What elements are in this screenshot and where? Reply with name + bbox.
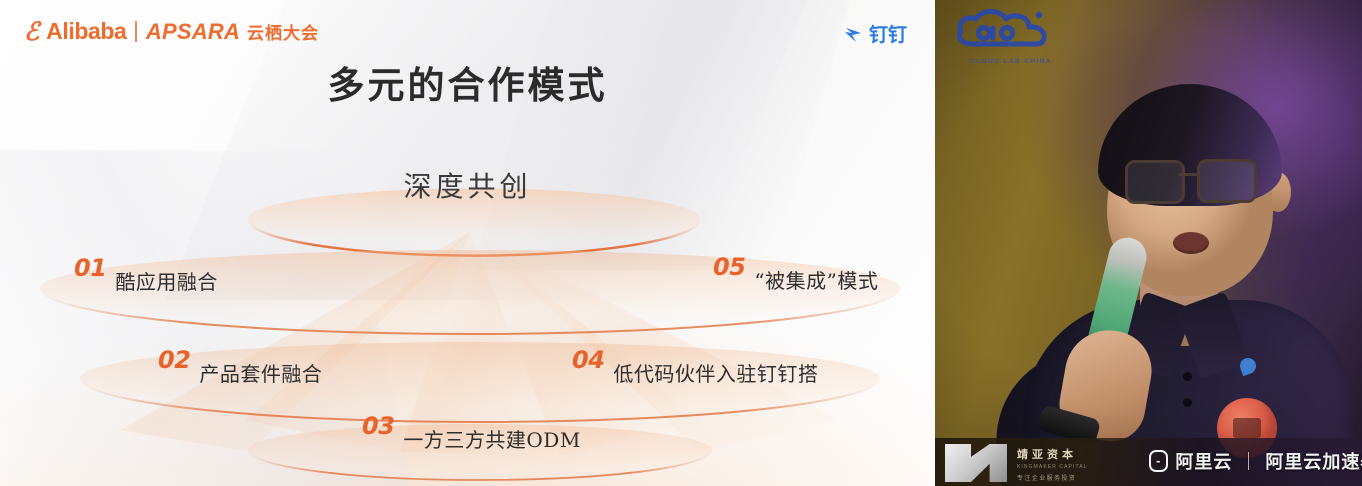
sponsor-bar: 靖亚资本 KINGMAKER CAPITAL 专注企业服务投资 - 阿里云 ｜ … <box>935 438 1362 486</box>
screen: ℰ Alibaba APSARA 云栖大会 钉钉 多元的合作模式 深度共创 01… <box>0 0 1362 486</box>
aliyun-accelerator-label: 阿里云加速器 <box>1265 448 1362 474</box>
dingtalk-arrow-icon <box>843 23 865 45</box>
item-number: 01 <box>74 256 106 280</box>
funnel-item-01: 01 酷应用融合 <box>74 256 218 280</box>
item-number: 04 <box>572 348 604 372</box>
item-number: 03 <box>362 414 394 438</box>
funnel-item-04: 04 低代码伙伴入驻钉钉搭 <box>572 348 818 372</box>
item-label: 产品套件融合 <box>199 364 322 384</box>
dingtalk-label: 钉钉 <box>869 20 907 47</box>
aliyun-mark-icon: - <box>1149 450 1168 472</box>
logo-divider <box>135 21 137 42</box>
presentation-slide: ℰ Alibaba APSARA 云栖大会 钉钉 多元的合作模式 深度共创 01… <box>0 0 935 486</box>
apsara-wordmark: APSARA <box>146 19 240 45</box>
dingtalk-logo: 钉钉 <box>843 20 907 47</box>
km-name-en: KINGMAKER CAPITAL <box>1017 464 1147 470</box>
funnel-item-05: 05 “被集成”模式 <box>713 255 878 279</box>
aliyun-sponsor-logo: - 阿里云 ｜ 阿里云加速器 <box>1149 448 1362 474</box>
aliyun-label: 阿里云 <box>1175 448 1232 474</box>
alibaba-apsara-logo: ℰ Alibaba APSARA 云栖大会 <box>24 18 319 45</box>
km-sponsor-text: 靖亚资本 KINGMAKER CAPITAL 专注企业服务投资 <box>1017 446 1147 482</box>
km-tagline: 专注企业服务投资 <box>1017 473 1147 482</box>
km-name-cn: 靖亚资本 <box>1017 446 1147 462</box>
item-label: “被集成”模式 <box>754 271 878 291</box>
funnel-item-02: 02 产品套件融合 <box>158 348 322 372</box>
funnel-item-03: 03 一方三方共建ODM <box>362 414 581 438</box>
video-vignette <box>935 0 1362 486</box>
alibaba-wordmark: Alibaba <box>46 18 126 45</box>
item-label: 酷应用融合 <box>115 272 218 292</box>
cloud-lab-caption: CLOUD LAB CHINA <box>951 58 1071 65</box>
item-label: 低代码伙伴入驻钉钉搭 <box>613 364 818 384</box>
apsara-cn-wordmark: 云栖大会 <box>247 19 319 44</box>
item-number: 05 <box>713 255 745 279</box>
sponsor-separator: ｜ <box>1239 448 1258 474</box>
alibaba-mark-icon: ℰ <box>24 19 39 44</box>
item-label: 一方三方共建ODM <box>403 430 580 450</box>
cloud-lab-logo: CLOUD LAB CHINA <box>951 6 1071 65</box>
item-number: 02 <box>158 348 190 372</box>
cloud-lab-cloud-icon <box>951 6 1071 52</box>
km-logo-icon <box>945 444 1007 482</box>
slide-subtitle: 深度共创 <box>0 165 935 205</box>
page-title: 多元的合作模式 <box>0 55 935 109</box>
speaker-video-feed[interactable]: CLOUD LAB CHINA 靖亚资本 KINGMAKER CAPITAL 专… <box>935 0 1362 486</box>
